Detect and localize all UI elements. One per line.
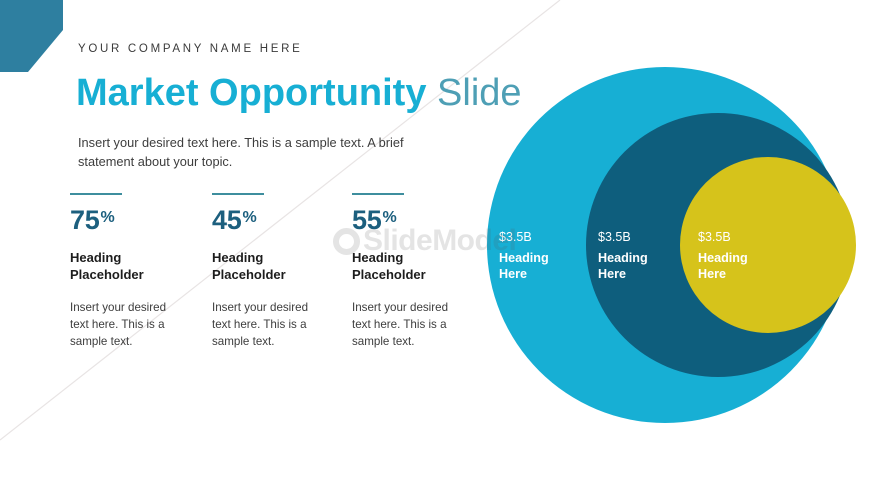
stat-value: 75% <box>70 203 205 235</box>
page-title-strong: Market Opportunity <box>76 72 426 114</box>
stat-column: 75% Heading Placeholder Insert your desi… <box>70 203 205 350</box>
stat-underline-rule <box>352 193 404 195</box>
stat-value: 55% <box>352 203 487 235</box>
bubble-heading: Heading Here <box>598 250 648 282</box>
stat-heading: Heading Placeholder <box>212 249 347 283</box>
company-name-eyebrow: YOUR COMPANY NAME HERE <box>78 43 302 55</box>
stat-underline-rule <box>212 193 264 195</box>
bubble-label-outer: $3.5B Heading Here <box>499 229 549 282</box>
bubble-amount: $3.5B <box>598 229 648 245</box>
intro-paragraph: Insert your desired text here. This is a… <box>78 133 458 171</box>
stat-heading: Heading Placeholder <box>70 249 205 283</box>
stat-number: 55 <box>352 205 381 235</box>
percent-symbol: % <box>242 209 256 226</box>
bubble-amount: $3.5B <box>698 229 748 245</box>
slide-canvas: YOUR COMPANY NAME HERE Market Opportunit… <box>0 0 870 489</box>
bubble-label-inner: $3.5B Heading Here <box>698 229 748 282</box>
percent-symbol: % <box>100 209 114 226</box>
stat-column: 55% Heading Placeholder Insert your desi… <box>352 203 487 350</box>
stat-body: Insert your desired text here. This is a… <box>212 299 324 350</box>
stat-column: 45% Heading Placeholder Insert your desi… <box>212 203 347 350</box>
bubble-label-middle: $3.5B Heading Here <box>598 229 648 282</box>
bubble-amount: $3.5B <box>499 229 549 245</box>
stat-number: 75 <box>70 205 99 235</box>
corner-wedge-decoration <box>0 0 70 80</box>
stat-underline-rule <box>70 193 122 195</box>
bubble-heading: Heading Here <box>499 250 549 282</box>
stat-body: Insert your desired text here. This is a… <box>70 299 182 350</box>
percent-symbol: % <box>382 209 396 226</box>
stat-heading: Heading Placeholder <box>352 249 487 283</box>
stat-value: 45% <box>212 203 347 235</box>
bubble-heading: Heading Here <box>698 250 748 282</box>
stat-number: 45 <box>212 205 241 235</box>
nested-circle-diagram: $3.5B Heading Here $3.5B Heading Here $3… <box>470 45 870 445</box>
page-title: Market Opportunity Slide <box>76 70 522 116</box>
stat-body: Insert your desired text here. This is a… <box>352 299 464 350</box>
